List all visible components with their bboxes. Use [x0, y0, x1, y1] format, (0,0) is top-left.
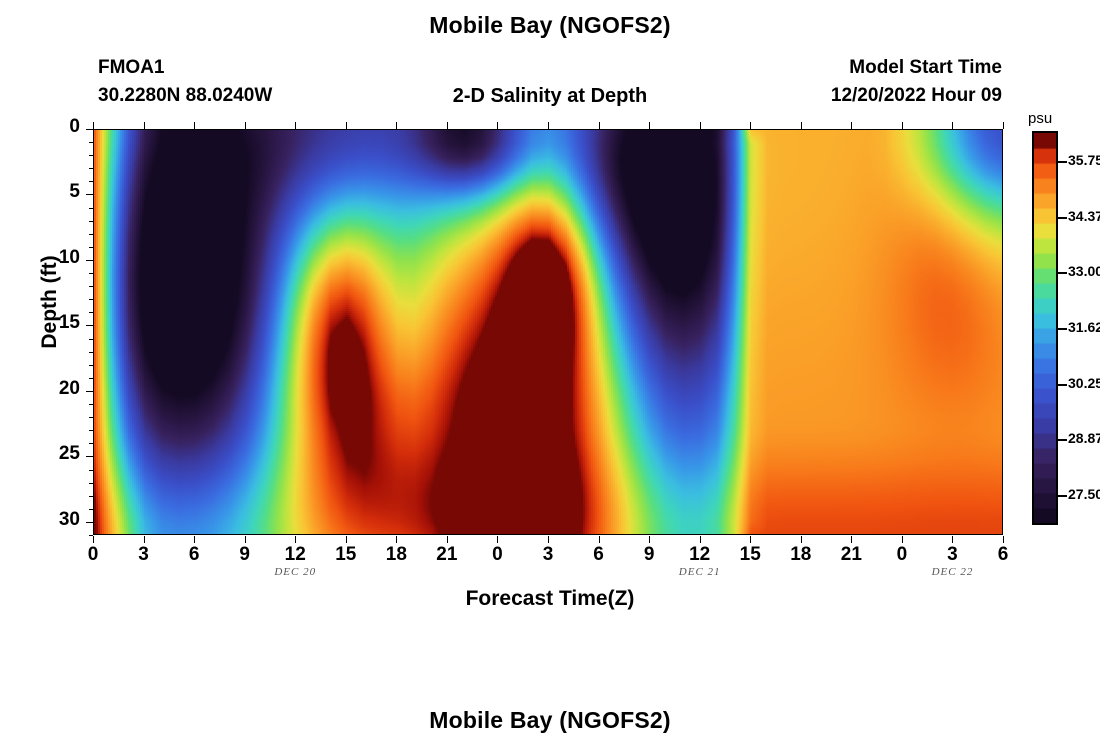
colorbar-tick	[1058, 495, 1067, 497]
colorbar-tick-label: 31.625	[1068, 319, 1100, 335]
y-tick	[86, 325, 93, 326]
colorbar	[1032, 131, 1058, 525]
y-tick-minor	[89, 430, 93, 431]
x-tick	[649, 536, 650, 543]
x-tick-label: 3	[122, 544, 166, 566]
x-tick	[801, 536, 802, 543]
y-tick-minor	[89, 299, 93, 300]
colorbar-tick-label: 35.750	[1068, 152, 1100, 168]
y-tick-label: 5	[34, 181, 80, 203]
x-tick-label: 21	[829, 544, 873, 566]
y-tick	[86, 522, 93, 523]
colorbar-tick	[1058, 439, 1067, 441]
x-tick-label: 3	[526, 544, 570, 566]
y-tick-minor	[89, 483, 93, 484]
colorbar-tick-label: 33.000	[1068, 263, 1100, 279]
y-tick-label: 0	[34, 116, 80, 138]
model-start-time-value: 12/20/2022 Hour 09	[831, 85, 1002, 107]
x-tick-top	[295, 122, 296, 129]
y-tick-minor	[89, 404, 93, 405]
x-tick-label: 18	[779, 544, 823, 566]
colorbar-tick	[1058, 272, 1067, 274]
x-tick-top	[93, 122, 94, 129]
x-tick	[447, 536, 448, 543]
page-title: Mobile Bay (NGOFS2)	[0, 12, 1100, 39]
x-tick	[93, 536, 94, 543]
x-tick-label: 15	[728, 544, 772, 566]
x-tick-label: 15	[324, 544, 368, 566]
y-tick-minor	[89, 247, 93, 248]
x-tick-top	[851, 122, 852, 129]
y-tick-minor	[89, 234, 93, 235]
y-tick-minor	[89, 208, 93, 209]
y-tick-label: 25	[34, 443, 80, 465]
y-tick-minor	[89, 339, 93, 340]
x-tick-top	[497, 122, 498, 129]
x-tick-top	[548, 122, 549, 129]
y-tick-minor	[89, 155, 93, 156]
x-tick	[902, 536, 903, 543]
date-label: DEC 20	[240, 566, 350, 578]
x-tick-label: 9	[627, 544, 671, 566]
station-id-label: FMOA1	[98, 57, 165, 79]
salinity-heatmap-plot	[93, 129, 1003, 535]
colorbar-canvas	[1034, 133, 1056, 523]
x-tick	[497, 536, 498, 543]
x-tick	[548, 536, 549, 543]
x-tick-label: 0	[71, 544, 115, 566]
x-tick	[1003, 536, 1004, 543]
y-tick	[86, 456, 93, 457]
date-label: DEC 22	[897, 566, 1007, 578]
y-tick-minor	[89, 496, 93, 497]
x-tick	[245, 536, 246, 543]
x-axis-title: Forecast Time(Z)	[0, 587, 1100, 611]
x-tick	[700, 536, 701, 543]
x-tick	[295, 536, 296, 543]
x-tick	[144, 536, 145, 543]
y-tick-minor	[89, 352, 93, 353]
x-tick	[194, 536, 195, 543]
colorbar-tick-label: 30.250	[1068, 375, 1100, 391]
x-tick-top	[700, 122, 701, 129]
x-tick-label: 3	[930, 544, 974, 566]
colorbar-tick-label: 34.375	[1068, 208, 1100, 224]
y-tick-minor	[89, 470, 93, 471]
y-tick-minor	[89, 509, 93, 510]
x-tick-top	[194, 122, 195, 129]
colorbar-tick-label: 27.500	[1068, 486, 1100, 502]
x-tick-label: 6	[172, 544, 216, 566]
x-tick	[851, 536, 852, 543]
y-tick-minor	[89, 378, 93, 379]
colorbar-tick	[1058, 328, 1067, 330]
y-tick-minor	[89, 273, 93, 274]
y-tick-label: 10	[34, 247, 80, 269]
y-tick-minor	[89, 221, 93, 222]
y-tick-minor	[89, 181, 93, 182]
x-tick-label: 18	[374, 544, 418, 566]
x-tick-label: 12	[273, 544, 317, 566]
model-start-time-label: Model Start Time	[849, 57, 1002, 79]
y-tick-minor	[89, 286, 93, 287]
x-tick-top	[750, 122, 751, 129]
x-tick	[599, 536, 600, 543]
y-tick	[86, 391, 93, 392]
x-tick-top	[952, 122, 953, 129]
x-tick-top	[1003, 122, 1004, 129]
x-tick-top	[649, 122, 650, 129]
y-tick-label: 30	[34, 509, 80, 531]
colorbar-unit-label: psu	[1028, 110, 1052, 127]
x-tick-label: 21	[425, 544, 469, 566]
x-tick-top	[447, 122, 448, 129]
y-tick-minor	[89, 168, 93, 169]
x-tick	[396, 536, 397, 543]
colorbar-tick-label: 28.875	[1068, 430, 1100, 446]
footer-title: Mobile Bay (NGOFS2)	[0, 707, 1100, 734]
y-tick	[86, 260, 93, 261]
y-tick-label: 15	[34, 312, 80, 334]
heatmap-canvas	[94, 130, 1002, 534]
y-tick-minor	[89, 417, 93, 418]
x-tick	[952, 536, 953, 543]
x-tick-top	[396, 122, 397, 129]
x-tick-label: 12	[678, 544, 722, 566]
x-tick	[346, 536, 347, 543]
x-tick-label: 0	[880, 544, 924, 566]
y-tick	[86, 129, 93, 130]
y-tick	[86, 194, 93, 195]
x-tick-top	[599, 122, 600, 129]
y-tick-label: 20	[34, 378, 80, 400]
x-tick-top	[902, 122, 903, 129]
x-tick-label: 0	[475, 544, 519, 566]
x-tick	[750, 536, 751, 543]
x-tick-label: 6	[981, 544, 1025, 566]
colorbar-tick	[1058, 217, 1067, 219]
x-tick-label: 6	[577, 544, 621, 566]
colorbar-tick	[1058, 161, 1067, 163]
y-tick-minor	[89, 312, 93, 313]
date-label: DEC 21	[645, 566, 755, 578]
x-tick-top	[245, 122, 246, 129]
x-tick-top	[144, 122, 145, 129]
y-tick-minor	[89, 443, 93, 444]
y-tick-minor	[89, 365, 93, 366]
colorbar-tick	[1058, 384, 1067, 386]
x-tick-top	[346, 122, 347, 129]
y-tick-minor	[89, 142, 93, 143]
x-tick-top	[801, 122, 802, 129]
x-tick-label: 9	[223, 544, 267, 566]
